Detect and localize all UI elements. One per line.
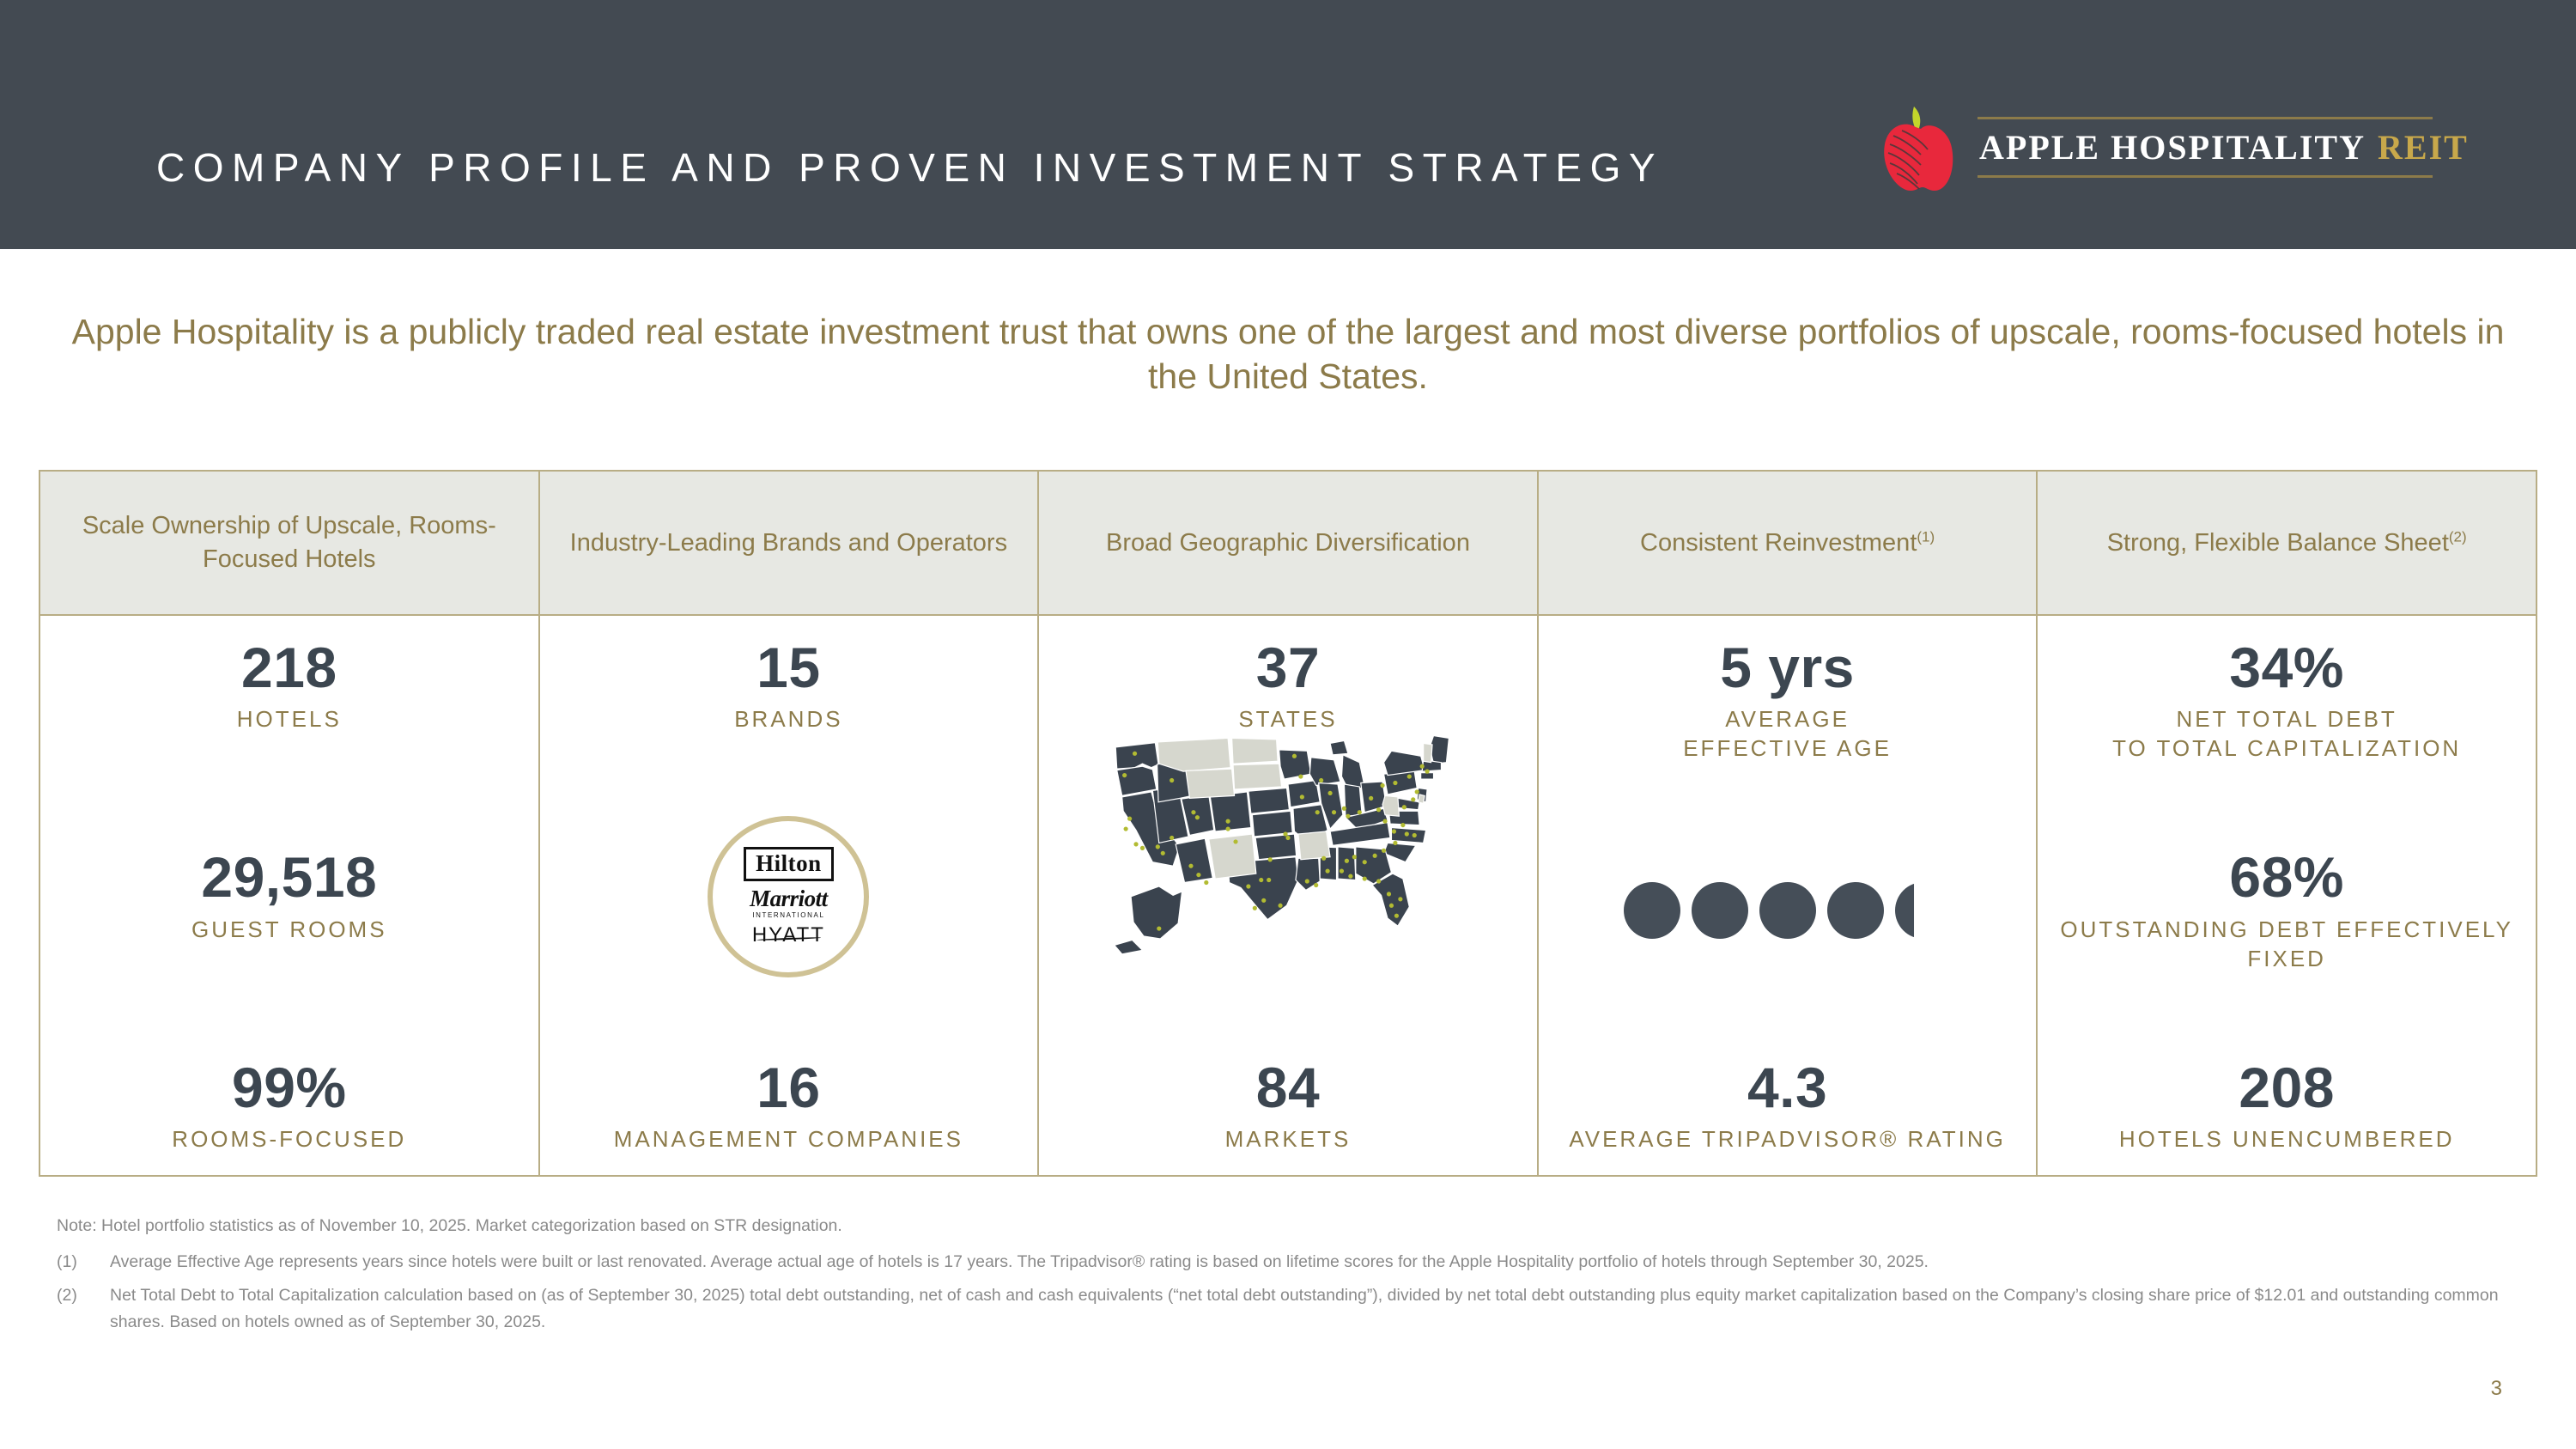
stat-label-hotels-unencumbered: HOTELS UNENCUMBERED	[2119, 1125, 2455, 1154]
column-header-text: Strong, Flexible Balance Sheet	[2107, 529, 2449, 557]
rating-dot-filled	[1624, 882, 1680, 939]
company-logo: APPLE HOSPITALITY REIT	[1876, 101, 2470, 194]
footnote-text: Average Effective Age represents years s…	[110, 1249, 2521, 1275]
footnote-text: Net Total Debt to Total Capitalization c…	[110, 1282, 2521, 1334]
stat-label-rooms-focused: ROOMS-FOCUSED	[172, 1125, 406, 1154]
logo-primary-text: APPLE HOSPITALITY	[1979, 127, 2366, 167]
stat-label-hotels: HOTELS	[237, 705, 342, 734]
stat-label-management-companies: MANAGEMENT COMPANIES	[614, 1125, 963, 1154]
column-header: Industry-Leading Brands and Operators	[540, 472, 1038, 616]
column-header-label: Broad Geographic Diversification	[1106, 527, 1470, 560]
column-body: 5 yrs AVERAGE EFFECTIVE AGE 4.3 AVERAGE …	[1539, 616, 2037, 1175]
column-balance-sheet: Strong, Flexible Balance Sheet(2) 34% NE…	[2038, 472, 2536, 1175]
logo-rule-bottom	[1978, 175, 2433, 178]
brand-logos-circle: Hilton Marriott INTERNATIONAL HYATT	[708, 816, 869, 977]
stat-label-markets: MARKETS	[1225, 1125, 1352, 1154]
column-consistent-reinvestment: Consistent Reinvestment(1) 5 yrs AVERAGE…	[1539, 472, 2038, 1175]
rating-dot-partial	[1895, 882, 1952, 939]
stat-value-management-companies: 16	[756, 1058, 820, 1117]
column-body: 15 BRANDS Hilton Marriott INTERNATIONAL …	[540, 616, 1038, 1175]
footnote-item: (2) Net Total Debt to Total Capitalizati…	[57, 1282, 2521, 1334]
column-header-label: Strong, Flexible Balance Sheet(2)	[2107, 527, 2467, 560]
stat-label-brands: BRANDS	[734, 705, 842, 734]
rating-dot-filled	[1692, 882, 1748, 939]
page-number: 3	[2491, 1377, 2502, 1401]
apple-logo-icon	[1876, 101, 1959, 194]
column-body: 218 HOTELS 29,518 GUEST ROOMS 99% ROOMS-…	[40, 616, 538, 1175]
column-brands-operators: Industry-Leading Brands and Operators 15…	[540, 472, 1040, 1175]
header-bar: COMPANY PROFILE AND PROVEN INVESTMENT ST…	[0, 0, 2576, 249]
column-header: Broad Geographic Diversification	[1039, 472, 1537, 616]
stat-value-brands: 15	[756, 638, 820, 697]
subtitle: Apple Hospitality is a publicly traded r…	[43, 309, 2533, 399]
stat-value-guest-rooms: 29,518	[201, 848, 377, 907]
marriott-wordmark: Marriott	[750, 886, 828, 911]
column-scale-ownership: Scale Ownership of Upscale, Rooms-Focuse…	[40, 472, 540, 1175]
column-header-footnote-ref: (1)	[1917, 528, 1935, 545]
us-map	[1051, 734, 1525, 983]
stat-value-tripadvisor-rating: 4.3	[1747, 1058, 1827, 1117]
stats-table: Scale Ownership of Upscale, Rooms-Focuse…	[39, 470, 2537, 1177]
stat-value-states: 37	[1256, 638, 1320, 697]
stat-label-effective-age: AVERAGE EFFECTIVE AGE	[1683, 705, 1892, 764]
marriott-logo-icon: Marriott INTERNATIONAL	[750, 887, 828, 919]
stat-value-effective-age: 5 yrs	[1720, 638, 1855, 697]
stat-label-guest-rooms: GUEST ROOMS	[191, 916, 387, 945]
page-title: COMPANY PROFILE AND PROVEN INVESTMENT ST…	[156, 144, 1663, 191]
column-body: 37 STATES	[1039, 616, 1537, 1175]
column-header-label: Consistent Reinvestment(1)	[1640, 527, 1935, 560]
column-header-text: Consistent Reinvestment	[1640, 529, 1917, 557]
column-body: 34% NET TOTAL DEBT TO TOTAL CAPITALIZATI…	[2038, 616, 2536, 1175]
stat-label-debt-fixed: OUTSTANDING DEBT EFFECTIVELY FIXED	[2050, 916, 2524, 974]
column-header-label: Industry-Leading Brands and Operators	[570, 527, 1007, 560]
stat-label-states: STATES	[1238, 705, 1337, 734]
stat-value-net-debt: 34%	[2229, 638, 2344, 697]
stat-value-hotels: 218	[241, 638, 337, 697]
stat-label-net-debt: NET TOTAL DEBT TO TOTAL CAPITALIZATION	[2112, 705, 2461, 764]
column-geographic-diversification: Broad Geographic Diversification 37 STAT…	[1039, 472, 1539, 1175]
logo-wordmark: APPLE HOSPITALITY REIT	[1978, 105, 2470, 192]
footnotes: Note: Hotel portfolio statistics as of N…	[57, 1213, 2521, 1342]
footnote-note: Note: Hotel portfolio statistics as of N…	[57, 1213, 2521, 1239]
column-header-footnote-ref: (2)	[2449, 528, 2467, 545]
column-header: Strong, Flexible Balance Sheet(2)	[2038, 472, 2536, 616]
logo-suffix-text: REIT	[2378, 127, 2469, 167]
rating-dots	[1624, 882, 1952, 939]
hilton-logo-icon: Hilton	[744, 847, 834, 881]
hyatt-logo-icon: HYATT	[752, 925, 825, 946]
footnote-marker: (1)	[57, 1249, 110, 1275]
stat-value-hotels-unencumbered: 208	[2239, 1058, 2335, 1117]
rating-dot-filled	[1827, 882, 1884, 939]
marriott-subtitle: INTERNATIONAL	[750, 912, 828, 919]
stat-value-debt-fixed: 68%	[2229, 848, 2344, 907]
stat-value-markets: 84	[1256, 1058, 1320, 1117]
stat-value-rooms-focused: 99%	[232, 1058, 347, 1117]
column-header: Consistent Reinvestment(1)	[1539, 472, 2037, 616]
slide-root: COMPANY PROFILE AND PROVEN INVESTMENT ST…	[0, 0, 2576, 1449]
stat-label-tripadvisor-rating: AVERAGE TRIPADVISOR® RATING	[1569, 1125, 2006, 1154]
rating-dot-filled	[1759, 882, 1816, 939]
footnote-item: (1) Average Effective Age represents yea…	[57, 1249, 2521, 1275]
footnote-marker: (2)	[57, 1282, 110, 1334]
column-header-label: Scale Ownership of Upscale, Rooms-Focuse…	[61, 509, 518, 575]
column-header: Scale Ownership of Upscale, Rooms-Focuse…	[40, 472, 538, 616]
